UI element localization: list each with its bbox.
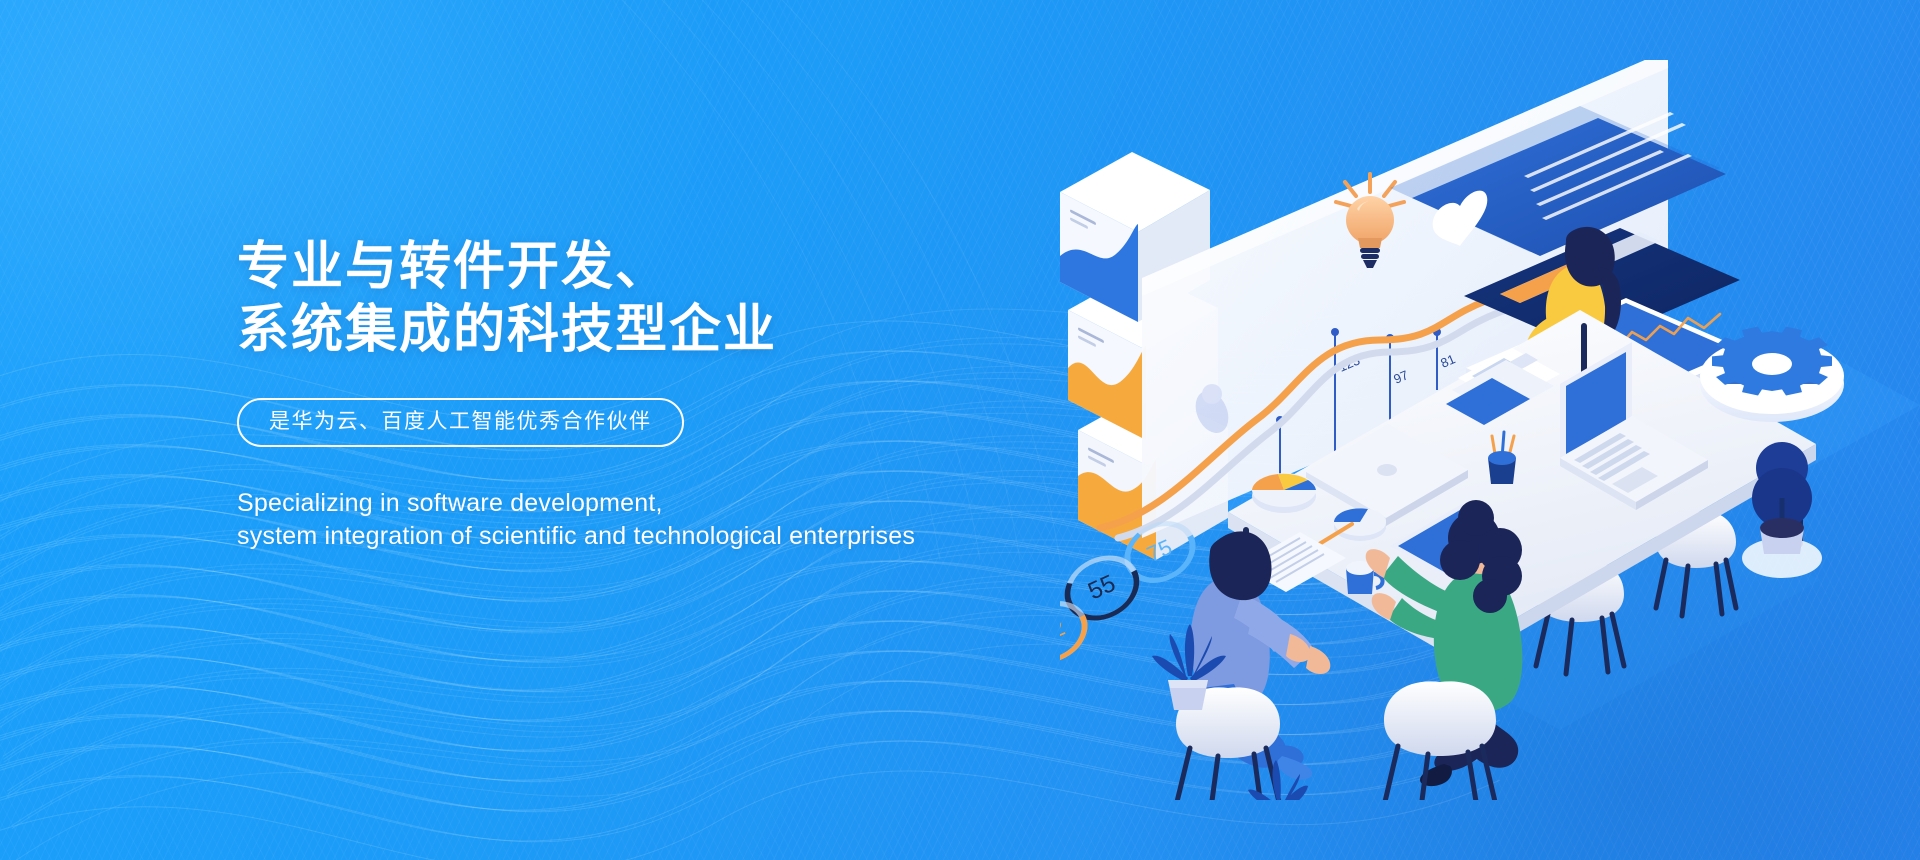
gauge-value-32: 32 (1060, 614, 1069, 648)
partner-badge: 是华为云、百度人工智能优秀合作伙伴 (237, 398, 684, 447)
hero-subtitle: Specializing in software development, sy… (237, 487, 1137, 553)
hero-banner: 专业与转件开发、 系统集成的科技型企业 是华为云、百度人工智能优秀合作伙伴 Sp… (0, 0, 1920, 860)
pencil-cup (1488, 432, 1516, 484)
hero-content: 专业与转件开发、 系统集成的科技型企业 是华为云、百度人工智能优秀合作伙伴 Sp… (237, 236, 1137, 553)
heart-card (1390, 106, 1726, 258)
pie-chart-prop (1252, 473, 1316, 513)
illustration: 65 123 97 81 (1060, 60, 1920, 800)
pie-chart-prop (1334, 508, 1386, 541)
gear-platform (1700, 327, 1844, 422)
gauge-value-55: 55 (1084, 570, 1119, 606)
page-title: 专业与转件开发、 系统集成的科技型企业 (237, 236, 1137, 362)
